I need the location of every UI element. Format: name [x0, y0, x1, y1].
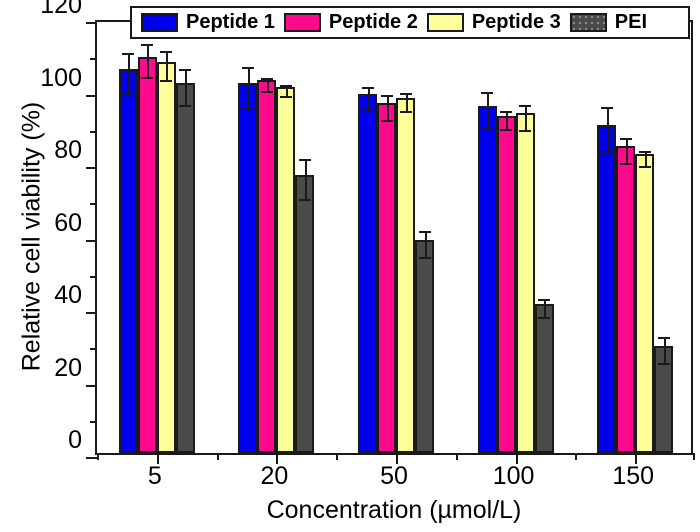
- error-bar-stem: [525, 105, 527, 130]
- error-bar-cap-upper: [160, 51, 172, 53]
- error-bar-cap-lower: [299, 199, 311, 201]
- y-axis-tick-minor: [90, 131, 97, 133]
- y-axis-tick-label: 60: [12, 209, 82, 238]
- y-axis-tick-label: 20: [12, 354, 82, 383]
- bar: [358, 94, 377, 453]
- bar: [396, 98, 415, 453]
- bar: [377, 103, 396, 453]
- legend-label: PEI: [615, 11, 647, 34]
- bar: [138, 57, 157, 453]
- y-axis-tick-major: [86, 385, 97, 387]
- error-bar-cap-upper: [620, 138, 632, 140]
- error-bar-stem: [128, 53, 130, 93]
- error-bar-cap-lower: [141, 77, 153, 79]
- bar: [157, 62, 176, 454]
- error-bar-cap-upper: [500, 111, 512, 113]
- error-bar-cap-upper: [381, 95, 393, 97]
- bar: [478, 106, 497, 453]
- error-bar-cap-lower: [381, 120, 393, 122]
- x-axis-tick-minor: [456, 453, 458, 460]
- y-axis-tick-label: 80: [12, 136, 82, 165]
- legend-label: Peptide 3: [472, 11, 561, 34]
- y-axis-tick-major: [86, 22, 97, 24]
- x-axis-tick-label: 100: [464, 462, 564, 491]
- error-bar-cap-lower: [500, 129, 512, 131]
- legend-swatch-icon: [427, 13, 464, 32]
- error-bar-cap-upper: [141, 44, 153, 46]
- y-axis-tick-major: [86, 457, 97, 459]
- y-axis-tick-major: [86, 167, 97, 169]
- bar: [257, 80, 276, 453]
- error-bar-stem: [248, 67, 250, 107]
- error-bar-cap-lower: [620, 163, 632, 165]
- legend-swatch-icon: [570, 13, 607, 32]
- x-axis-tick-minor: [97, 453, 99, 460]
- error-bar-cap-lower: [179, 105, 191, 107]
- bar: [635, 154, 654, 453]
- error-bar-cap-lower: [419, 257, 431, 259]
- chart-legend: Peptide 1Peptide 2Peptide 3PEI: [130, 6, 690, 39]
- x-axis-tick-minor: [575, 453, 577, 460]
- error-bar-stem: [305, 159, 307, 199]
- error-bar-cap-lower: [538, 317, 550, 319]
- error-bar-stem: [645, 151, 647, 166]
- error-bar-cap-lower: [639, 166, 651, 168]
- y-axis-tick-minor: [90, 58, 97, 60]
- error-bar-stem: [506, 111, 508, 129]
- error-bar-stem: [166, 51, 168, 80]
- error-bar-cap-lower: [261, 91, 273, 93]
- x-axis-tick-minor: [217, 453, 219, 460]
- error-bar-cap-upper: [261, 78, 273, 80]
- bar: [535, 304, 554, 453]
- error-bar-cap-upper: [419, 231, 431, 233]
- x-axis-tick-label: 20: [224, 462, 324, 491]
- plot-area: 020406080100120: [95, 20, 693, 455]
- error-bar-cap-upper: [280, 85, 292, 87]
- error-bar-stem: [487, 92, 489, 128]
- legend-entry[interactable]: Peptide 3: [427, 11, 561, 34]
- error-bar-stem: [607, 107, 609, 151]
- y-axis-tick-label: 120: [12, 0, 82, 20]
- error-bar-cap-upper: [538, 299, 550, 301]
- error-bar-cap-upper: [122, 53, 134, 55]
- bar: [238, 83, 257, 453]
- x-axis-tick-minor: [693, 453, 695, 460]
- error-bar-cap-lower: [160, 80, 172, 82]
- error-bar-stem: [387, 95, 389, 120]
- bar-chart-figure: Relative cell viability (%) 020406080100…: [0, 0, 700, 532]
- legend-label: Peptide 1: [186, 11, 275, 34]
- error-bar-cap-lower: [601, 151, 613, 153]
- error-bar-cap-lower: [400, 111, 412, 113]
- x-axis-tick-label: 150: [583, 462, 683, 491]
- legend-label: Peptide 2: [329, 11, 418, 34]
- y-axis-tick-major: [86, 95, 97, 97]
- bar: [295, 175, 314, 453]
- error-bar-stem: [147, 44, 149, 77]
- error-bar-cap-lower: [658, 363, 670, 365]
- legend-swatch-icon: [141, 13, 178, 32]
- error-bar-cap-lower: [242, 107, 254, 109]
- y-axis-tick-label: 100: [12, 64, 82, 93]
- legend-entry[interactable]: Peptide 2: [284, 11, 418, 34]
- error-bar-stem: [406, 93, 408, 111]
- error-bar-cap-upper: [601, 107, 613, 109]
- bar: [276, 87, 295, 453]
- bar: [497, 116, 516, 453]
- y-axis-tick-minor: [90, 276, 97, 278]
- y-axis-tick-minor: [90, 203, 97, 205]
- bar: [516, 113, 535, 453]
- y-axis-tick-label: 40: [12, 281, 82, 310]
- y-axis-tick-label: 0: [12, 426, 82, 455]
- y-axis-tick-major: [86, 240, 97, 242]
- error-bar-cap-upper: [400, 93, 412, 95]
- legend-entry[interactable]: Peptide 1: [141, 11, 275, 34]
- legend-entry[interactable]: PEI: [570, 11, 647, 34]
- error-bar-cap-lower: [122, 93, 134, 95]
- bar: [597, 125, 616, 453]
- y-axis-tick-minor: [90, 348, 97, 350]
- error-bar-cap-lower: [481, 128, 493, 130]
- error-bar-stem: [544, 299, 546, 317]
- error-bar-cap-upper: [299, 159, 311, 161]
- bar: [176, 83, 195, 453]
- error-bar-cap-lower: [280, 96, 292, 98]
- error-bar-stem: [425, 231, 427, 256]
- error-bar-stem: [368, 87, 370, 109]
- bar: [616, 146, 635, 453]
- x-axis-tick-label: 50: [344, 462, 444, 491]
- error-bar-cap-upper: [519, 105, 531, 107]
- error-bar-cap-upper: [481, 92, 493, 94]
- bar: [415, 240, 434, 453]
- y-axis-tick-minor: [90, 421, 97, 423]
- error-bar-cap-upper: [179, 69, 191, 71]
- x-axis-tick-minor: [336, 453, 338, 460]
- error-bar-cap-lower: [362, 109, 374, 111]
- error-bar-cap-upper: [242, 67, 254, 69]
- y-axis-tick-major: [86, 312, 97, 314]
- bar: [119, 69, 138, 453]
- legend-swatch-icon: [284, 13, 321, 32]
- error-bar-stem: [626, 138, 628, 163]
- error-bar-cap-upper: [639, 151, 651, 153]
- x-axis-tick-label: 5: [105, 462, 205, 491]
- error-bar-stem: [185, 69, 187, 105]
- error-bar-cap-upper: [658, 337, 670, 339]
- error-bar-stem: [664, 337, 666, 362]
- error-bar-cap-upper: [362, 87, 374, 89]
- x-axis-title: Concentration (µmol/L): [95, 496, 693, 525]
- error-bar-cap-lower: [519, 130, 531, 132]
